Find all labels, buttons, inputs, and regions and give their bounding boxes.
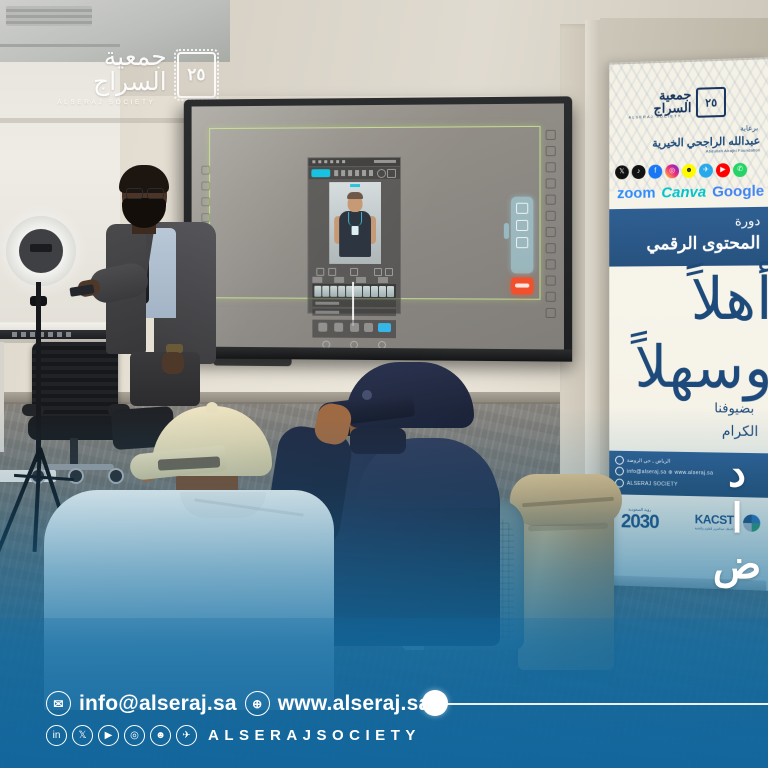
strip-icon[interactable] [546,146,556,156]
attendee2-cap-logo [362,390,372,400]
telegram-icon: ✈ [699,163,713,177]
attendee1-shirt [44,490,334,710]
fullscreen-icon[interactable] [374,268,382,276]
strip-icon[interactable] [546,130,556,140]
timeline-frame[interactable] [338,285,345,296]
video-preview[interactable] [329,182,381,264]
banner-social-icons: 𝕏 ♪ f ◎ ☻ ✈ ▶ ✆ [615,162,764,179]
tiktok-icon: ♪ [632,165,646,179]
editor-tool-row[interactable] [312,320,396,339]
preview-subject-hair [347,192,363,199]
timeline-text-track[interactable] [312,309,396,316]
timeline-frame[interactable] [379,286,386,297]
canva-logo: Canva [661,184,706,202]
strip-icon[interactable] [546,178,556,188]
snapchat-icon: ☻ [682,164,696,178]
banner-logo-mark: ٢٥ [696,87,726,118]
vertical-watermark-text: ضاد [718,450,756,588]
mirrored-phone-ui[interactable] [307,157,401,314]
x-icon: 𝕏 [615,165,629,179]
banner-brand-row: zoom Canva Google [617,183,766,203]
expand-icon[interactable] [385,268,393,276]
settings-icon[interactable] [387,169,396,178]
attendee-cream-cap [84,406,344,706]
banner-title-line2: المحتوى الرقمي [646,233,760,254]
phone-navigation-bar[interactable] [322,341,386,347]
eraser-icon[interactable] [516,220,528,231]
pen-icon[interactable] [516,203,528,214]
banner-logo: جمعية السراج ALSERAJ SOCIETY ٢٥ [619,85,726,122]
banner-title-line1: دورة [735,213,760,229]
timeline-frame[interactable] [330,285,337,296]
ceiling-vent [6,6,92,26]
timeline-frame[interactable] [363,285,370,296]
timeline-frame[interactable] [387,286,394,297]
timeline-frame[interactable] [371,285,378,296]
text-tool-icon[interactable] [350,323,359,332]
youtube-icon: ▶ [716,163,730,177]
banner-contact-text1: الرياض ـ حي الروضة [627,457,670,464]
banner-contact-text2: info@alseraj.sa ⊕ www.alseraj.sa [627,468,713,476]
interactive-whiteboard[interactable] [184,96,572,361]
strip-icon[interactable] [546,162,556,172]
preview-subject-badge [352,226,359,235]
track-label [315,310,339,313]
shape-icon[interactable] [516,237,528,248]
display-right-icon-strip[interactable] [544,126,558,328]
presenter-hand-lower [162,352,184,374]
phone-status-bar [308,158,400,166]
screenshot-root: جمعية السراج ALSERAJ SOCIETY ٢٥ [0,0,768,768]
timeline-frame[interactable] [322,285,329,296]
wall-logo-english: ALSERAJ SOCIETY [57,99,155,106]
help-icon[interactable] [377,169,386,178]
instagram-icon: ◎ [665,164,679,178]
strip-icon[interactable] [546,308,556,318]
banner-calligraphy: أهلاً وسهلاً [609,267,768,398]
preview-marker [350,184,360,187]
banner-sponsor: عبدالله الراجحي الخيرية Abdullah Alrajhi… [652,134,760,155]
export-button[interactable] [311,169,330,177]
google-logo: Google [712,183,764,201]
toolbar-drag-handle[interactable] [504,223,509,239]
tripod-stem [36,282,41,462]
banner-contact-row2: info@alseraj.sa ⊕ www.alseraj.sa [615,467,713,478]
projection-surface[interactable] [192,103,564,349]
strip-icon[interactable] [546,276,556,286]
vision-2030-logo: رؤية السعودية 2030 [621,506,659,534]
attendee1-cap-button [206,402,218,414]
preview-subject-lanyard [348,212,362,226]
strip-icon[interactable] [546,259,556,269]
timeline-audio-track[interactable] [312,300,396,307]
play-icon[interactable] [350,268,358,276]
timeline-frame[interactable] [314,285,321,296]
undo-icon[interactable] [316,268,324,276]
wall-logo-mark: ٢٥ [177,52,216,98]
location-icon [615,456,624,465]
chair-wheel [68,468,84,484]
record-button[interactable] [511,277,533,294]
attendee2-mask [350,428,406,454]
table-leg [0,342,4,452]
banner-contact-text3: ALSERAJ SOCIETY [627,480,678,487]
playback-controls[interactable] [312,267,396,276]
phone-holder [30,244,52,252]
overlay-tool-icon[interactable] [378,323,391,332]
banner-sponsor-label: برعاية [740,124,758,133]
strip-icon[interactable] [546,243,556,253]
status-left-icons [312,160,346,163]
banner-title-band: دورة المحتوى الرقمي [609,207,768,267]
vision-year: 2030 [621,511,659,534]
status-right-icons [374,160,396,163]
laptop-on-table [0,330,108,339]
timeline-frame[interactable] [355,285,362,296]
wall-logo-text: جمعية السراج ALSERAJ SOCIETY [46,45,167,106]
wall-logo-watermark: جمعية السراج ALSERAJ SOCIETY ٢٥ [46,44,216,106]
editor-tab-row[interactable] [312,277,396,283]
strip-icon[interactable] [546,211,556,221]
edit-tool-icon[interactable] [318,323,327,332]
strip-icon[interactable] [546,227,556,237]
banner-subtitle-line2: الكرام [722,422,758,440]
timeline-clip-strip[interactable] [312,284,396,298]
ring-light [6,216,76,286]
presenter-glasses [126,188,164,197]
banner-logo-english: ALSERAJ SOCIETY [629,114,682,119]
audio-tool-icon[interactable] [334,323,343,332]
project-title [334,170,376,176]
banner-contact-row1: الرياض ـ حي الروضة [615,456,670,466]
sticker-tool-icon[interactable] [364,323,373,332]
facebook-icon: f [648,165,662,179]
track-label [315,301,339,304]
annotation-toolbar[interactable] [511,197,533,274]
strip-icon[interactable] [546,195,556,205]
redo-icon[interactable] [328,268,336,276]
whatsapp-icon: ✆ [733,163,747,177]
display-mount [213,358,292,367]
zoom-logo: zoom [617,185,655,203]
banner-logo-arabic: جمعية السراج [619,88,691,116]
strip-icon[interactable] [546,292,556,302]
wall-logo-arabic: جمعية السراج [46,45,167,95]
banner-subtitle-line1: بضيوفنا [714,400,754,417]
presenter [104,168,224,398]
